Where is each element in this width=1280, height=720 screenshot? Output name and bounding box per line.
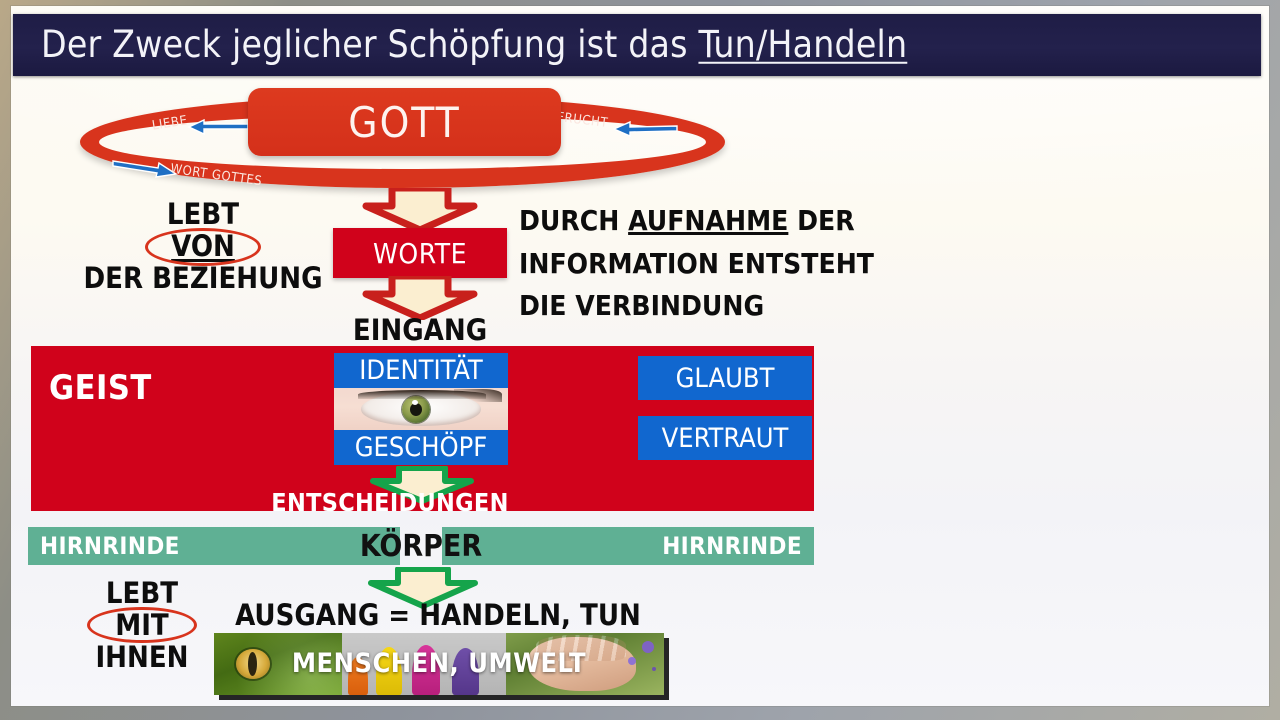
arrow-down-to-worte-icon — [346, 188, 494, 232]
glaubt-label: GLAUBT — [676, 363, 775, 394]
hirnrinde-right-label: HIRNRINDE — [662, 532, 802, 560]
eye-pupil — [410, 403, 422, 416]
identitaet-label: IDENTITÄT — [359, 355, 482, 386]
left-text-von-circled: VON — [145, 230, 261, 264]
glaubt-box: GLAUBT — [638, 356, 812, 400]
eye-image — [334, 388, 508, 430]
gott-ring-group: LIEBE WORT GOTTES FRUCHT GOTT — [80, 96, 740, 201]
body-band: HIRNRINDE HIRNRINDE KÖRPER — [28, 527, 814, 565]
gott-box: GOTT — [248, 88, 561, 156]
entscheidungen-label: ENTSCHEIDUNGEN — [233, 488, 547, 517]
bottom-left-mit-circled: MIT — [87, 608, 196, 642]
page-title: Der Zweck jeglicher Schöpfung ist das Tu… — [41, 26, 907, 63]
vertraut-label: VERTRAUT — [662, 423, 789, 454]
right-text-line1: DURCH AUFNAHME DER — [519, 200, 939, 243]
left-text-block: LEBT VON DER BEZIEHUNG — [58, 200, 348, 294]
right-text-line1-post: DER — [788, 204, 854, 237]
slide-canvas: Der Zweck jeglicher Schöpfung ist das Tu… — [0, 0, 1280, 720]
bottom-left-line3: IHNEN — [95, 640, 188, 674]
menschen-umwelt-strip: MENSCHEN, UMWELT — [214, 633, 664, 695]
geist-label: GEIST — [49, 368, 152, 408]
identity-eye-stack: IDENTITÄT GESCHÖPF — [334, 353, 508, 465]
right-text-line2: INFORMATION ENTSTEHT — [519, 243, 939, 286]
eingang-label: EINGANG — [333, 313, 507, 347]
right-text-aufnahme: AUFNAHME — [628, 204, 788, 237]
hirnrinde-left-label: HIRNRINDE — [40, 532, 180, 560]
bottom-left-text-block: LEBT MIT IHNEN — [62, 578, 222, 672]
title-underlined-text: Tun/Handeln — [698, 23, 907, 66]
right-text-line1-pre: DURCH — [519, 204, 628, 237]
bottom-left-line1: LEBT — [106, 576, 178, 610]
hirnrinde-right-segment: HIRNRINDE — [442, 527, 814, 565]
left-text-line3: DER BEZIEHUNG — [58, 264, 348, 294]
worte-box: WORTE — [333, 228, 507, 278]
eye-glint — [412, 400, 418, 405]
liebe-arrow-icon — [186, 118, 250, 136]
vertraut-box: VERTRAUT — [638, 416, 812, 460]
title-main-text: Der Zweck jeglicher Schöpfung ist das — [41, 23, 698, 66]
geschoepf-label: GESCHÖPF — [355, 432, 488, 463]
worte-box-label: WORTE — [373, 237, 467, 270]
koerper-label: KÖRPER — [365, 525, 477, 567]
menschen-umwelt-label: MENSCHEN, UMWELT — [214, 648, 664, 679]
ausgang-label: AUSGANG = HANDELN, TUN — [228, 598, 648, 632]
hirnrinde-left-segment: HIRNRINDE — [28, 527, 400, 565]
identitaet-box: IDENTITÄT — [334, 353, 508, 388]
left-text-line1: LEBT — [58, 200, 348, 230]
frucht-arrow-icon — [611, 120, 679, 138]
geschoepf-box: GESCHÖPF — [334, 430, 508, 465]
gott-box-label: GOTT — [348, 98, 460, 147]
slide-title-bar: Der Zweck jeglicher Schöpfung ist das Tu… — [13, 14, 1261, 76]
right-text-block: DURCH AUFNAHME DER INFORMATION ENTSTEHT … — [519, 200, 939, 328]
right-text-line3: DIE VERBINDUNG — [519, 285, 939, 328]
